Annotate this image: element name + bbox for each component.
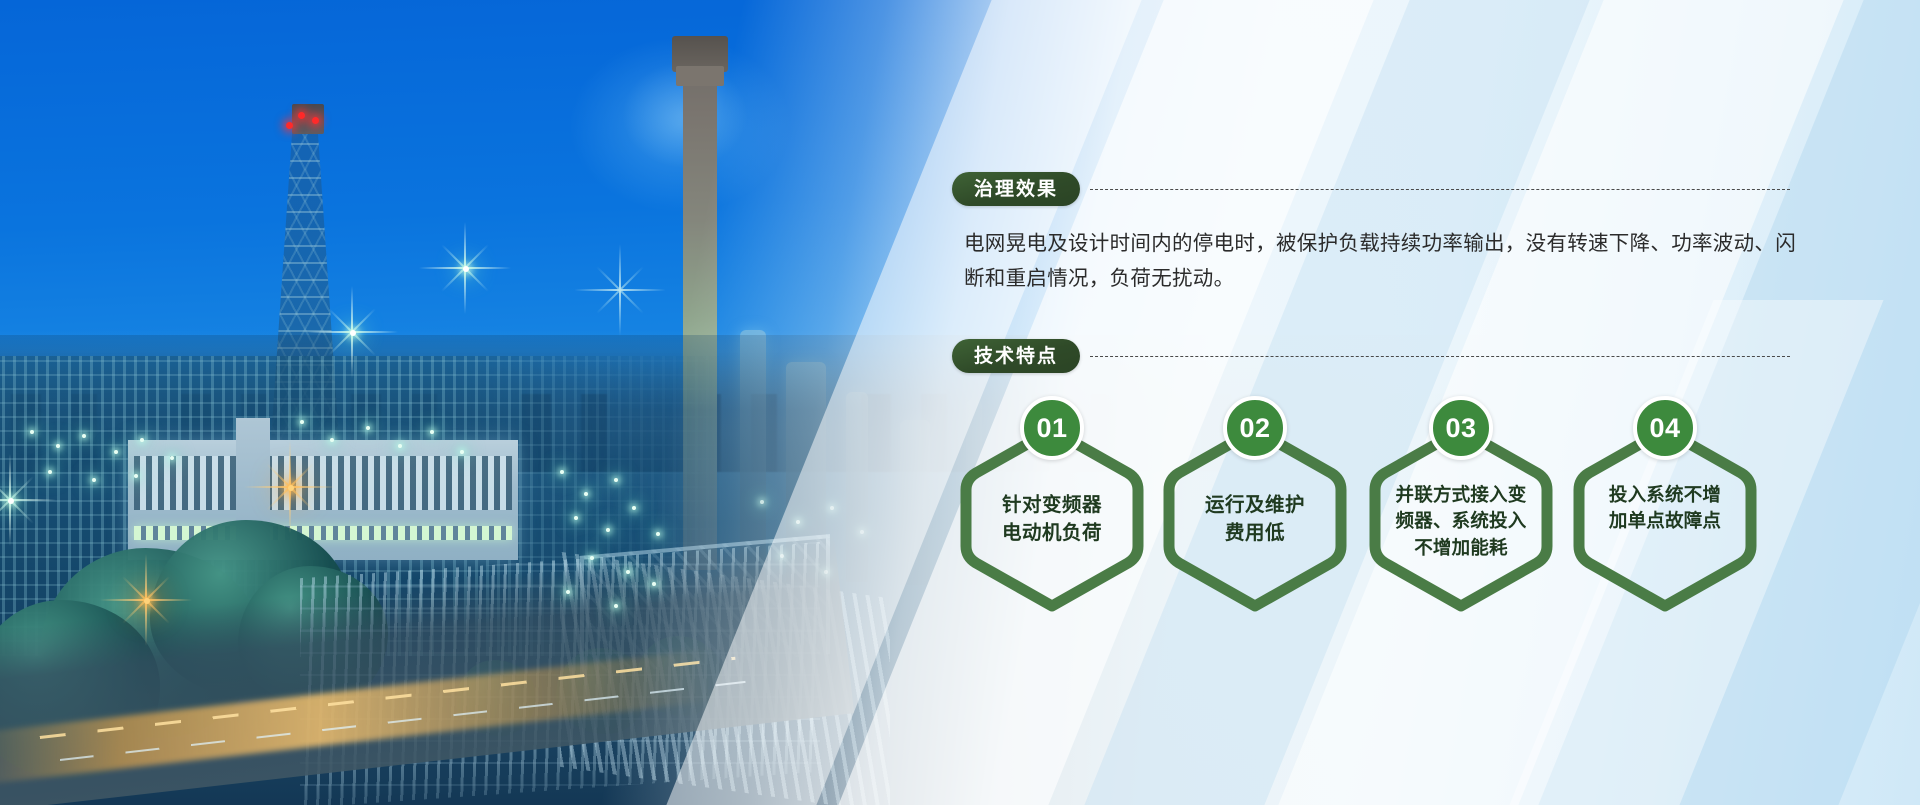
feature-line: 并联方式接入变 bbox=[1361, 482, 1561, 508]
feature-line: 不增加能耗 bbox=[1361, 535, 1561, 561]
header-dashed-rule bbox=[1090, 189, 1790, 190]
feature-hexagon-01[interactable]: 针对变频器 电动机负荷 01 bbox=[952, 396, 1152, 616]
feature-line: 运行及维护 bbox=[1155, 492, 1355, 520]
feature-label-02: 运行及维护 费用低 bbox=[1155, 492, 1355, 547]
header-dashed-rule bbox=[1090, 356, 1790, 357]
feature-number-badge-04: 04 bbox=[1633, 396, 1697, 460]
section-technical-features: 技术特点 bbox=[952, 339, 1790, 373]
section-governance-effect: 治理效果 bbox=[952, 172, 1790, 206]
feature-hexagon-row: 针对变频器 电动机负荷 01 运行及维护 费用低 02 bbox=[952, 396, 1762, 616]
content-layer: 治理效果 电网晃电及设计时间内的停电时，被保护负载持续功率输出，没有转速下降、功… bbox=[0, 0, 1920, 805]
feature-line: 电动机负荷 bbox=[952, 520, 1152, 548]
feature-line: 费用低 bbox=[1155, 520, 1355, 548]
feature-hexagon-04[interactable]: 投入系统不增 加单点故障点 04 bbox=[1565, 396, 1765, 616]
feature-line: 加单点故障点 bbox=[1565, 508, 1765, 534]
feature-label-03: 并联方式接入变 频器、系统投入 不增加能耗 bbox=[1361, 482, 1561, 561]
banner-stage: 治理效果 电网晃电及设计时间内的停电时，被保护负载持续功率输出，没有转速下降、功… bbox=[0, 0, 1920, 805]
feature-line: 针对变频器 bbox=[952, 492, 1152, 520]
feature-number-badge-02: 02 bbox=[1223, 396, 1287, 460]
feature-label-04: 投入系统不增 加单点故障点 bbox=[1565, 482, 1765, 535]
section-label-technical-features: 技术特点 bbox=[952, 339, 1080, 373]
feature-hexagon-03[interactable]: 并联方式接入变 频器、系统投入 不增加能耗 03 bbox=[1361, 396, 1561, 616]
section-label-governance-effect: 治理效果 bbox=[952, 172, 1080, 206]
feature-label-01: 针对变频器 电动机负荷 bbox=[952, 492, 1152, 547]
section-header-row: 治理效果 bbox=[952, 172, 1790, 206]
feature-hexagon-02[interactable]: 运行及维护 费用低 02 bbox=[1155, 396, 1355, 616]
section-body-governance-effect: 电网晃电及设计时间内的停电时，被保护负载持续功率输出，没有转速下降、功率波动、闪… bbox=[964, 226, 1800, 297]
feature-line: 频器、系统投入 bbox=[1361, 508, 1561, 534]
feature-line: 投入系统不增 bbox=[1565, 482, 1765, 508]
feature-number-badge-03: 03 bbox=[1429, 396, 1493, 460]
feature-number-badge-01: 01 bbox=[1020, 396, 1084, 460]
section-header-row: 技术特点 bbox=[952, 339, 1790, 373]
